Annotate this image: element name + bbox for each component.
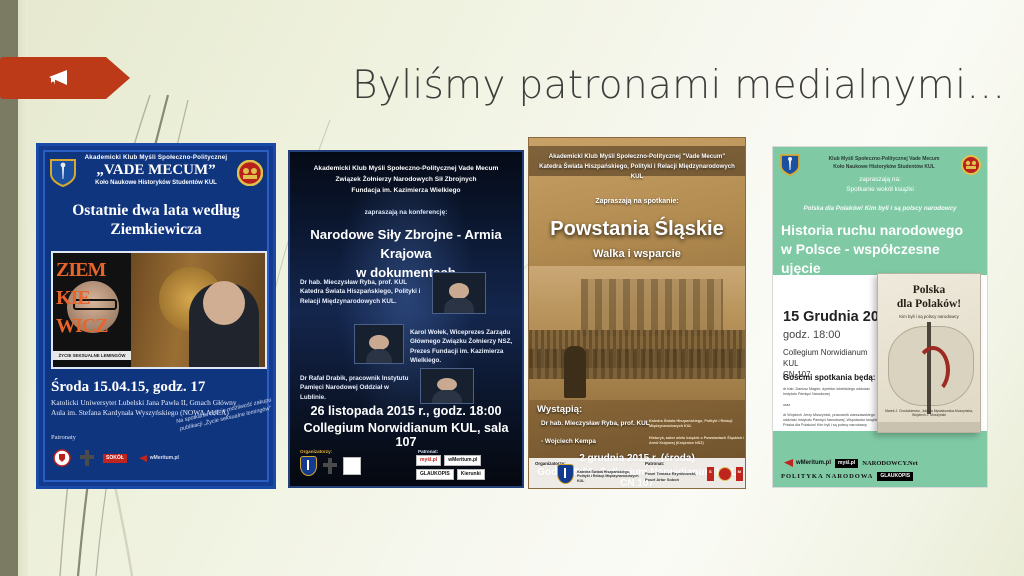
- book-cover-title-line1: Polska: [882, 283, 976, 297]
- poster-3-speaker-2: - Wojciech Kempa: [541, 438, 596, 445]
- poster-1-header: Akademicki Klub Myśli Społeczno-Politycz…: [47, 154, 265, 186]
- wmeritum-megaphone-icon: [781, 458, 794, 468]
- poster-2-date: 26 listopada 2015 r., godz. 18:00: [296, 404, 516, 418]
- narodowcy-net-logo: NARODOWCY.Net: [862, 460, 918, 467]
- poster-2-org-line3: Fundacja im. Kazimierza Wielkiego: [300, 185, 512, 196]
- vade-mecum-shield-icon: [557, 464, 574, 484]
- poster-2-speaker-1-photo: [432, 272, 486, 314]
- portrait-body: [366, 349, 393, 363]
- poster-1-title: Ostatnie dwa lata według Ziemkiewicza: [45, 201, 267, 239]
- poster-4-book-title-line: Polska dla Polaków! Kim byli i są polscy…: [779, 205, 981, 212]
- ribbon-shape: [916, 346, 950, 394]
- poster-3-historical-photo: [529, 266, 745, 400]
- poster-2-patrons-label: Patronat:: [418, 449, 438, 454]
- vade-mecum-shield-icon: [300, 456, 317, 476]
- poster-2-organizers-label: Organizatorzy:: [300, 449, 332, 454]
- wmeritum-logo: wMeritum.pl: [444, 455, 481, 466]
- poster-2-speaker-3: Dr Rafał Drabik, pracownik Instytutu Pam…: [300, 374, 416, 402]
- poster-3-organizers-text: Katedra Świata Hiszpańskiego, Polityki i…: [577, 470, 641, 484]
- poster-1-book-cover: ZIEM KIE WICZ ŻYCIE SEKSUALNE LEMINGÓW: [53, 253, 131, 367]
- poster-3-title: Powstania Śląskie: [535, 218, 739, 241]
- poster-1-org-line2: Koło Naukowe Historyków Studentów KUL: [47, 180, 265, 186]
- sokol-logo-icon: S: [707, 467, 714, 481]
- poster-3-patron-logos: S M: [707, 467, 743, 481]
- portrait-head: [449, 283, 470, 299]
- book-word-2: KIE: [56, 287, 90, 310]
- poster-4-title: Historia ruchu narodowego w Polsce - wsp…: [781, 221, 979, 278]
- book-strip-text: ŻYCIE SEKSUALNE LEMINGÓW: [53, 351, 131, 360]
- wmeritum-logo-icon: M: [736, 467, 743, 481]
- poster-3-patrons-text: Poseł Tomasz Rzymkowski, Poseł Artur Sob…: [645, 471, 703, 482]
- poster-2-header: Akademicki Klub Myśli Społeczno-Politycz…: [300, 163, 512, 196]
- portrait-body: [432, 390, 461, 403]
- poster-2-organizer-logos: [300, 456, 361, 476]
- poster-3-speakers-label: Wystąpią:: [537, 404, 582, 415]
- kul-seal-logo-icon: [718, 467, 732, 481]
- book-cover-title-line2: dla Polaków!: [882, 297, 976, 311]
- poster-4-book-cover: Polska dla Polaków! Kim byli i są polscy…: [877, 273, 981, 433]
- portrait-head: [369, 335, 388, 350]
- wmeritum-megaphone-icon: [136, 454, 148, 463]
- vade-mecum-emblem-icon: [779, 153, 801, 177]
- megaphone-icon: [40, 68, 70, 88]
- poster-ziemkiewicz[interactable]: Akademicki Klub Myśli Społeczno-Politycz…: [36, 143, 276, 489]
- wmeritum-label: wMeritum.pl: [150, 455, 179, 461]
- slide: Byliśmy patronami medialnymi… Akademicki…: [0, 0, 1024, 576]
- poster-3-subtitle: Walka i wsparcie: [535, 248, 739, 260]
- poster-powstania-slaskie[interactable]: Akademicki Klub Myśli Społeczno-Politycz…: [528, 137, 746, 489]
- poster-3-speaker-2-detail: Historyk, autor wielu książek o Powstani…: [649, 436, 745, 446]
- poster-nsz-ak[interactable]: Akademicki Klub Myśli Społeczno-Politycz…: [288, 150, 524, 488]
- poster-2-title-line1: Narodowe Siły Zbrojne - Armia Krajowa: [296, 225, 516, 263]
- poster-2-org-line2: Związek Żołnierzy Narodowych Sił Zbrojny…: [300, 174, 512, 185]
- poster-4-place-line1: Collegium Norwidianum KUL: [783, 347, 883, 369]
- mysl-pl-logo: myśl.pl: [835, 459, 858, 468]
- photo-building: [581, 279, 724, 335]
- poster-3-speaker-1: Dr hab. Mieczysław Ryba, prof. KUL: [541, 420, 650, 427]
- poster-1-image-pair: ZIEM KIE WICZ ŻYCIE SEKSUALNE LEMINGÓW: [51, 251, 267, 369]
- poster-2-org-line1: Akademicki Klub Myśli Społeczno-Politycz…: [300, 163, 512, 174]
- poster-3-speaker-1-detail: Katedra Świata Hiszpańskiego, Polityki i…: [649, 419, 745, 429]
- glaukopis-logo: GLAUKOPIS: [416, 469, 454, 480]
- photo-troop-rank-2: [529, 349, 745, 378]
- poster-1-date: Środa 15.04.15, godz. 17: [51, 379, 263, 396]
- poster-2-invite: zapraszają na konferencję:: [300, 209, 512, 216]
- poster-3-invite: Zapraszają na spotkanie:: [535, 198, 739, 205]
- poster-4-time: godz. 18:00: [783, 329, 841, 341]
- poster-1-photo: [131, 253, 265, 367]
- poster-2-speaker-2-photo: [354, 324, 404, 364]
- poster-2-patron-logos: myśl.pl wMeritum.pl GLAUKOPIS Kierunki: [416, 455, 520, 480]
- poster-3-patrons-label: Patronat:: [645, 461, 664, 466]
- poster-2-speaker-1: Dr hab. Mieczysław Ryba, prof. KUL Kated…: [300, 278, 428, 306]
- poster-1-patrons-label: Patronaty: [51, 434, 76, 441]
- wmeritum-label: wMeritum.pl: [796, 460, 831, 466]
- poster-4-header: Klub Myśli Społeczno-Politycznej Vade Me…: [807, 155, 961, 171]
- poster-2-place: Collegium Norwidianum KUL, sala 107: [296, 421, 516, 449]
- book-word-1: ZIEM: [56, 259, 105, 282]
- book-cover-subtitle: Kim byli i są polscy narodowcy: [882, 314, 976, 319]
- kul-seal-logo-icon: [53, 449, 71, 467]
- poster-3-org-line1: Akademicki Klub Myśli Społeczno-Politycz…: [535, 152, 739, 162]
- poster-3-org-line2: Katedra Świata Hiszpańskiego, Polityki i…: [535, 162, 739, 182]
- poster-1-org-name: „VADE MECUM”: [47, 162, 265, 179]
- portrait-body: [444, 298, 473, 313]
- polityka-narodowa-logo: POLITYKA NARODOWA: [781, 473, 873, 480]
- glaukopis-logo: GLAUKOPIS: [877, 472, 913, 481]
- poster-2-speaker-2: Karol Wołek, Wiceprezes Zarządu Głównego…: [410, 328, 516, 366]
- sokol-logo: SOKÓŁ: [103, 454, 127, 463]
- book-word-3: WICZ: [56, 315, 108, 338]
- poster-4-invite-line1: zapraszają na:: [783, 175, 977, 185]
- book-publisher-band: [878, 422, 980, 432]
- title-banner: [0, 57, 130, 99]
- mysl-pl-logo: myśl.pl: [416, 455, 441, 466]
- book-cover-authors: Marek J. Chodakiewicz, Jolanta Mysiakows…: [882, 409, 976, 418]
- kul-circle-emblem-icon: [961, 155, 981, 175]
- poster-1-org-line1: Akademicki Klub Myśli Społeczno-Politycz…: [47, 154, 265, 161]
- photo-foreground-figure: [564, 346, 586, 398]
- banner-arrow-point: [106, 57, 130, 99]
- poster-1-patron-logos: SOKÓŁ wMeritum.pl: [53, 449, 179, 467]
- page-title: Byliśmy patronami medialnymi…: [352, 58, 992, 114]
- poster-3-header: Akademicki Klub Myśli Społeczno-Politycz…: [535, 152, 739, 182]
- poster-historia-ruchu-narodowego[interactable]: Klub Myśli Społeczno-Politycznej Vade Me…: [772, 146, 988, 488]
- nsz-cross-logo-icon: [323, 458, 337, 474]
- poster-4-org-line2: Koło Naukowe Historyków Studentów KUL: [807, 163, 961, 171]
- book-cover-title: Polska dla Polaków!: [882, 283, 976, 311]
- fundacja-kw-logo-icon: [343, 457, 361, 475]
- nsz-cross-logo-icon: [80, 450, 94, 466]
- poster-2-speaker-3-photo: [420, 368, 474, 404]
- speaker-head: [203, 281, 245, 325]
- kierunki-logo: Kierunki: [457, 469, 485, 480]
- poster-4-title-line1: Historia ruchu narodowego: [781, 221, 979, 240]
- poster-3-org-shield: [557, 464, 574, 484]
- poster-4-org-line1: Klub Myśli Społeczno-Politycznej Vade Me…: [807, 155, 961, 163]
- poster-4-invite: zapraszają na: Spotkanie wokół książki: [783, 175, 977, 195]
- poster-4-guests-label: Gośćmi spotkania będą:: [783, 373, 875, 382]
- poster-4-media-logos: wMeritum.pl myśl.pl NARODOWCY.Net POLITY…: [781, 458, 979, 481]
- poster-4-invite-line2: Spotkanie wokół książki: [783, 185, 977, 195]
- poster-4-guests-text: dr hab. Dariusz Magier, dyrektor lubelsk…: [783, 387, 883, 429]
